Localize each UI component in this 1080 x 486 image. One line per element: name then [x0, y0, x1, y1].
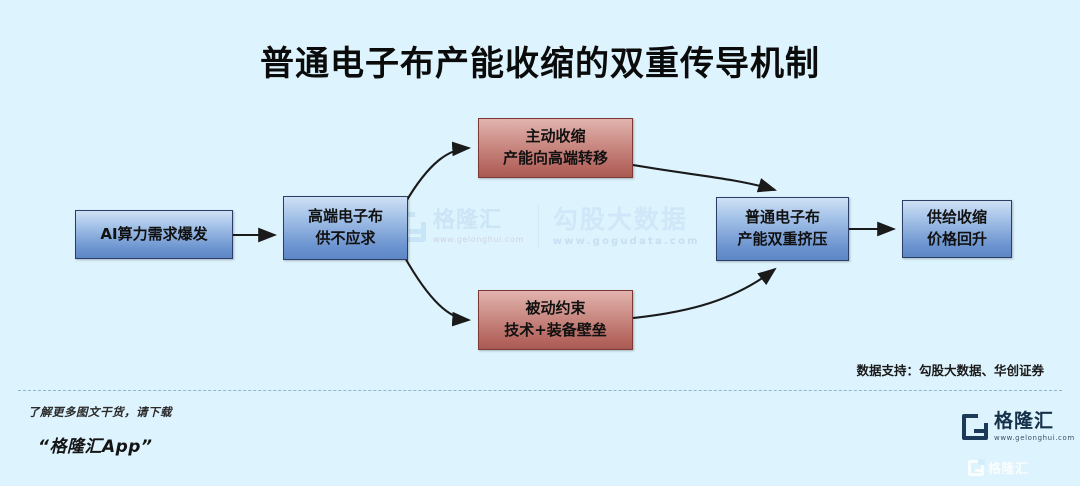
node-active-contraction-label: 主动收缩 产能向高端转移 [503, 126, 608, 170]
node-high-line2: 供不应求 [315, 229, 375, 247]
watermark-gogudata: 勾股大数据 www.gogudata.com [553, 207, 700, 247]
watermark-gelonghui-texts: 格隆汇 www.gelonghui.com [433, 210, 524, 244]
corner-watermark: 格隆汇 [968, 458, 1029, 477]
footer-brand-url: www.gelonghui.com [994, 435, 1075, 442]
edge-high-to-passive [404, 256, 469, 320]
node-passive-line1: 被动约束 [525, 299, 585, 317]
footer-promo: 了解更多图文干货，请下载 “格隆汇App” [28, 404, 172, 457]
footer-brand-name: 格隆汇 [994, 412, 1075, 431]
node-common-cloth-label: 普通电子布 产能双重挤压 [737, 207, 827, 251]
node-active-line2: 产能向高端转移 [503, 149, 608, 167]
node-high-line1: 高端电子布 [308, 207, 383, 225]
watermark-gogudata-texts: 勾股大数据 www.gogudata.com [553, 207, 700, 247]
watermark-gelonghui: 格隆汇 www.gelonghui.com [396, 210, 524, 244]
edge-active-to-common [633, 165, 775, 190]
node-high-end-cloth-label: 高端电子布 供不应求 [308, 206, 383, 250]
node-passive-constraint-label: 被动约束 技术+装备壁垒 [504, 298, 607, 342]
edge-high-to-active [404, 148, 469, 205]
footer-promo-line2: “格隆汇App” [38, 432, 172, 457]
watermark-gogudata-name: 勾股大数据 [553, 207, 700, 232]
diagram-canvas: 普通电子布产能收缩的双重传导机制 格隆汇 www.gelonghui.com 勾… [0, 0, 1080, 486]
footer-promo-line1: 了解更多图文干货，请下载 [28, 404, 172, 420]
node-supply-contraction[interactable]: 供给收缩 价格回升 [902, 200, 1012, 258]
node-passive-line2: 技术+装备壁垒 [504, 321, 607, 339]
footer-divider [18, 390, 1062, 391]
footer-brand-texts: 格隆汇 www.gelonghui.com [994, 412, 1075, 442]
node-supply-line2: 价格回升 [927, 230, 987, 248]
node-ai-compute-demand[interactable]: AI算力需求爆发 [75, 210, 233, 259]
node-supply-contraction-label: 供给收缩 价格回升 [927, 207, 987, 251]
node-ai-label: AI算力需求爆发 [100, 224, 207, 246]
node-active-contraction[interactable]: 主动收缩 产能向高端转移 [478, 118, 633, 178]
node-high-end-cloth[interactable]: 高端电子布 供不应求 [283, 196, 408, 260]
data-source-note: 数据支持：勾股大数据、华创证券 [856, 360, 1044, 379]
corner-watermark-name: 格隆汇 [988, 458, 1029, 477]
page-title: 普通电子布产能收缩的双重传导机制 [0, 36, 1080, 85]
footer-brand-logo: 格隆汇 www.gelonghui.com [962, 412, 1075, 442]
node-supply-line1: 供给收缩 [927, 208, 987, 226]
gelonghui-logo-icon [962, 414, 988, 440]
node-passive-constraint[interactable]: 被动约束 技术+装备壁垒 [478, 290, 633, 350]
watermark-gelonghui-name: 格隆汇 [433, 210, 524, 232]
edge-passive-to-common [633, 269, 775, 318]
watermark-gogudata-url: www.gogudata.com [553, 237, 700, 247]
center-watermark: 格隆汇 www.gelonghui.com 勾股大数据 www.gogudata… [396, 196, 716, 258]
node-common-line1: 普通电子布 [745, 208, 820, 226]
watermark-divider [538, 205, 539, 249]
node-common-line2: 产能双重挤压 [737, 230, 827, 248]
gelonghui-logo-icon [968, 460, 984, 476]
node-common-cloth[interactable]: 普通电子布 产能双重挤压 [716, 197, 849, 261]
node-active-line1: 主动收缩 [525, 127, 585, 145]
watermark-gelonghui-url: www.gelonghui.com [433, 236, 524, 244]
